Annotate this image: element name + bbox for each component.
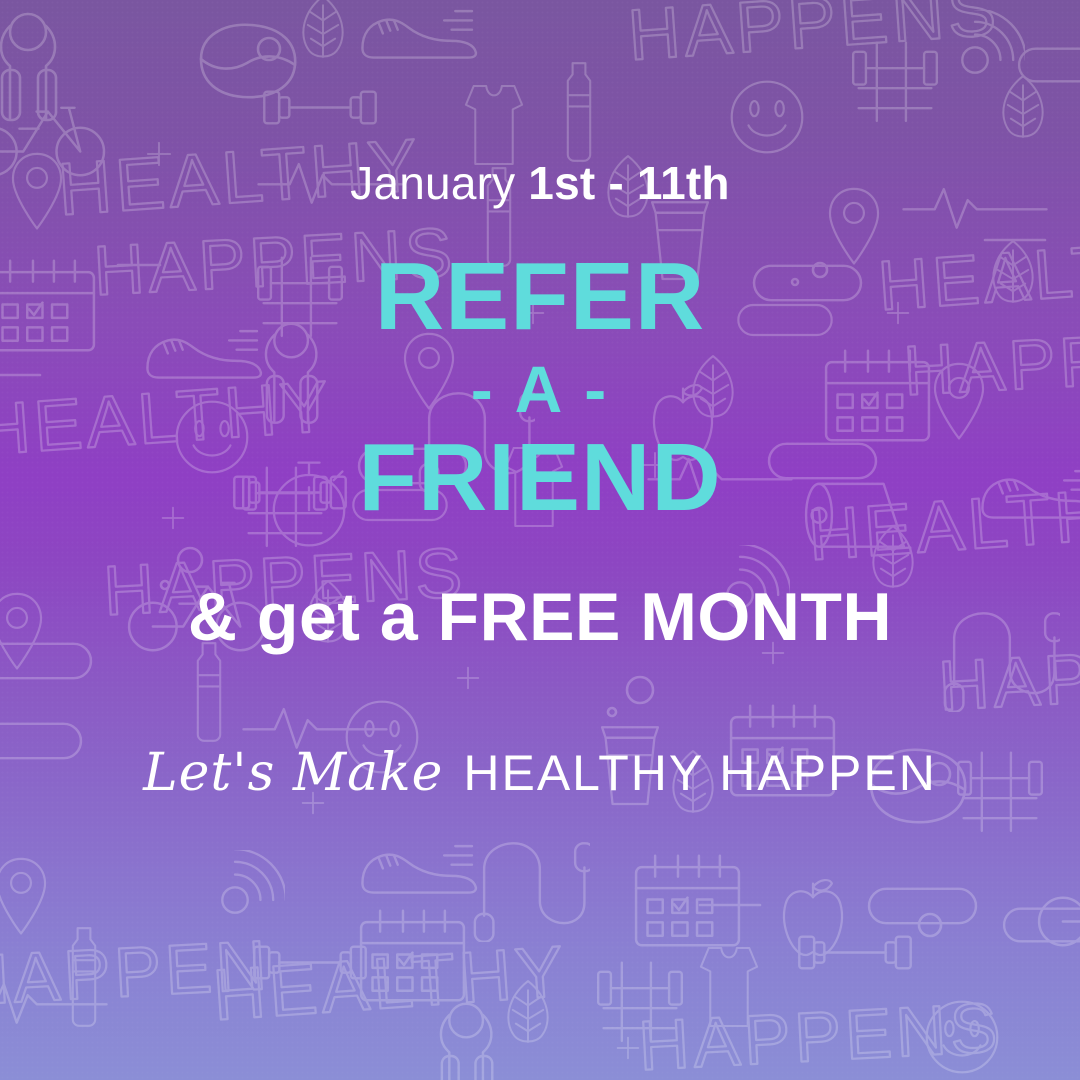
promo-subheadline: & get a FREE MONTH — [188, 583, 892, 651]
promo-date-month: January — [350, 157, 528, 209]
tagline-caps-text: HEALTHY HAPPEN — [463, 744, 937, 802]
promo-headline: REFER - A - FRIEND — [358, 248, 721, 527]
poster-content: January 1st - 11th REFER - A - FRIEND & … — [0, 0, 1080, 1080]
promo-date-range: 1st - 11th — [528, 157, 729, 209]
tagline-script-text: Let's Make — [143, 743, 443, 803]
headline-line-a: - A - — [358, 356, 721, 423]
brand-tagline: Let's Make HEALTHY HAPPEN — [143, 743, 937, 803]
promo-poster: HEALTHY HAPPENS HAPPENS HEALTHY HAPPEN H… — [0, 0, 1080, 1080]
promo-date-line: January 1st - 11th — [350, 160, 729, 206]
headline-line-refer: REFER — [358, 248, 721, 346]
headline-line-friend: FRIEND — [358, 429, 721, 527]
